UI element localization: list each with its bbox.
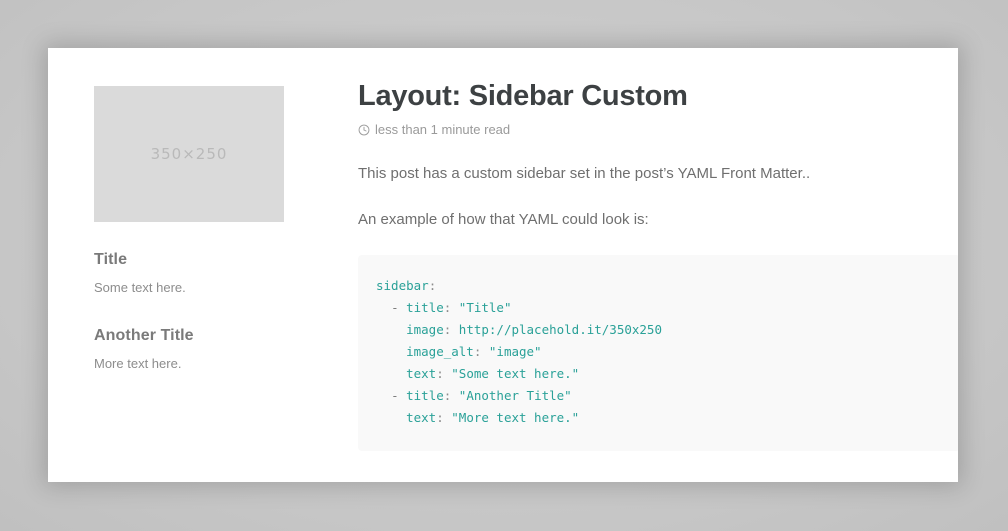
post-article: Layout: Sidebar Custom less than 1 minut… (358, 80, 958, 482)
read-time-label: less than 1 minute read (375, 122, 510, 137)
page-card: 350×250 Title Some text here. Another Ti… (48, 48, 958, 482)
sidebar-block: Title Some text here. (94, 250, 286, 298)
sidebar-block: Another Title More text here. (94, 326, 286, 374)
page-title: Layout: Sidebar Custom (358, 80, 958, 113)
sidebar-block-title: Another Title (94, 326, 286, 345)
post-paragraph: An example of how that YAML could look i… (358, 209, 958, 232)
code-block-content: sidebar: - title: "Title" image: http://… (376, 275, 936, 429)
custom-sidebar: 350×250 Title Some text here. Another Ti… (94, 86, 286, 373)
sidebar-placeholder-image: 350×250 (94, 86, 284, 222)
placeholder-dimensions-label: 350×250 (151, 145, 228, 163)
sidebar-block-text: Some text here. (94, 278, 286, 298)
code-block: sidebar: - title: "Title" image: http://… (358, 255, 958, 451)
post-paragraph: This post has a custom sidebar set in th… (358, 163, 958, 186)
sidebar-block-title: Title (94, 250, 286, 269)
sidebar-block-text: More text here. (94, 354, 286, 374)
page-inner: 350×250 Title Some text here. Another Ti… (48, 48, 958, 482)
post-meta: less than 1 minute read (358, 122, 958, 137)
clock-icon (358, 124, 370, 136)
